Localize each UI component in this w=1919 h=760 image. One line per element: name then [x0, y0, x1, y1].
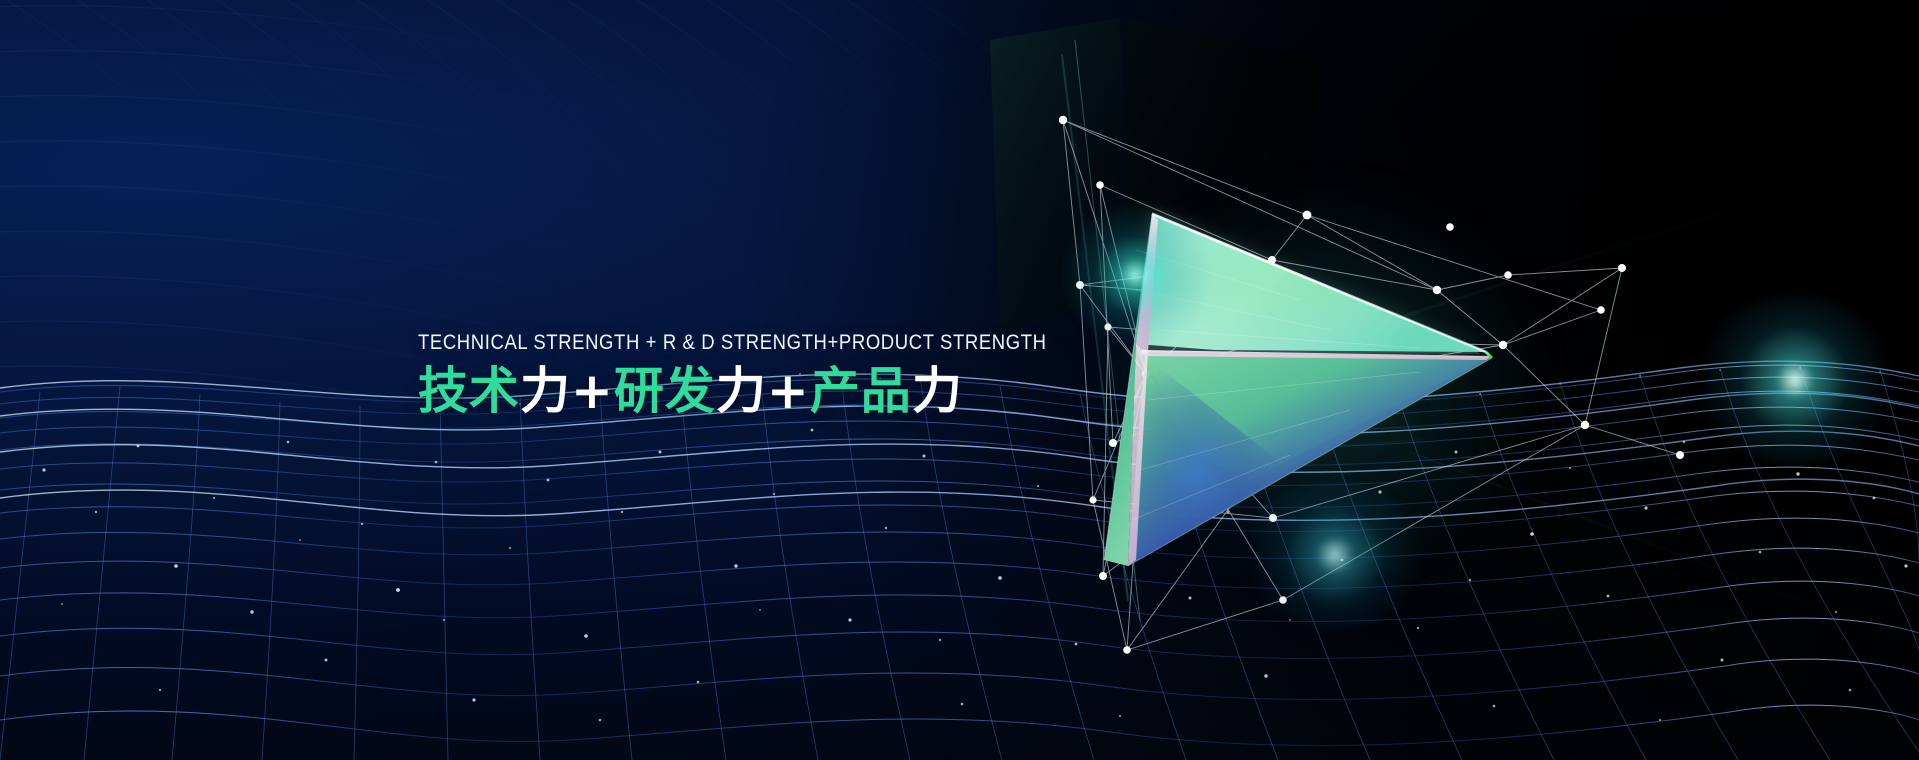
right-edge-lens-flare — [1690, 295, 1900, 465]
cyan-light-beam-flare — [1060, 200, 1210, 350]
headline-segment-4: 力 — [716, 362, 767, 420]
headline-segment-2: + — [571, 362, 614, 420]
headline-segment-0: 技术 — [418, 362, 520, 420]
prism-ambient-glow — [1090, 180, 1550, 580]
headline-segment-1: 力 — [520, 362, 571, 420]
headline-segment-3: 研发 — [614, 362, 716, 420]
lower-left-lens-flare — [1240, 480, 1430, 630]
headline-segment-5: + — [767, 362, 810, 420]
hero-headline: 技术力+研发力+产品力 — [418, 362, 1058, 420]
hero-text-block: TECHNICAL STRENGTH + R & D STRENGTH+PROD… — [418, 330, 1058, 420]
hero-banner: TECHNICAL STRENGTH + R & D STRENGTH+PROD… — [0, 0, 1919, 760]
hero-eyebrow-text: TECHNICAL STRENGTH + R & D STRENGTH+PROD… — [418, 330, 981, 356]
headline-segment-6: 产品 — [810, 362, 912, 420]
headline-segment-7: 力 — [912, 362, 963, 420]
